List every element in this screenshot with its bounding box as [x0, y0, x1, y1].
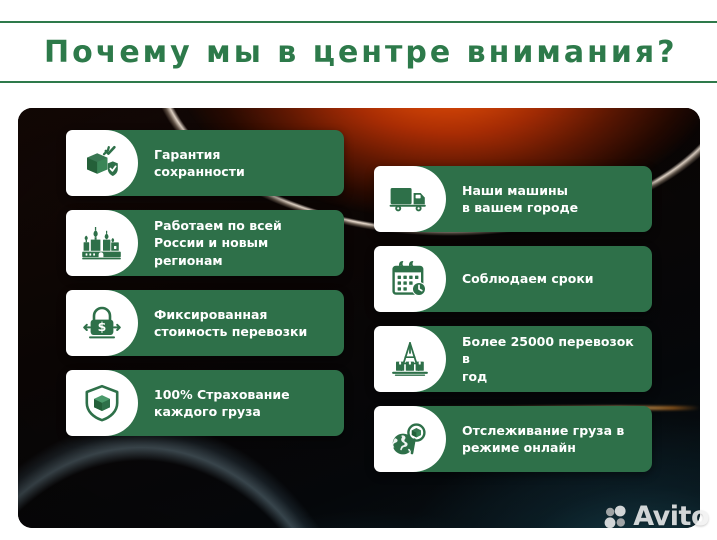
padlock-dollar-icon: $ — [66, 290, 138, 356]
feature-card-label: 100% Страхование каждого груза — [154, 386, 290, 421]
feature-card-label: Более 25000 перевозок в год — [462, 333, 642, 385]
globe-magnifier-icon — [374, 406, 446, 472]
kremlin-cityscape-icon — [66, 210, 138, 276]
feature-card-label: Соблюдаем сроки — [462, 270, 594, 287]
feature-card-volume[interactable]: Более 25000 перевозок в год — [374, 326, 652, 392]
truck-icon — [374, 166, 446, 232]
feature-card-tracking[interactable]: Отслеживание груза в режиме онлайн — [374, 406, 652, 472]
svg-text:$: $ — [98, 319, 107, 334]
crates-crane-icon — [374, 326, 446, 392]
shield-box-icon — [66, 370, 138, 436]
feature-panel: Гарантия сохранности — [18, 108, 700, 528]
page-header: Почему мы в центре внимания? — [0, 21, 717, 83]
feature-column-left: Гарантия сохранности — [66, 130, 344, 436]
page-title: Почему мы в центре внимания? — [44, 35, 678, 70]
feature-card-label: Наши машины в вашем городе — [462, 182, 578, 217]
feature-card-deadlines[interactable]: Соблюдаем сроки — [374, 246, 652, 312]
feature-column-right: Наши машины в вашем городе — [374, 166, 652, 472]
feature-card-label: Гарантия сохранности — [154, 146, 245, 181]
feature-card-guarantee[interactable]: Гарантия сохранности — [66, 130, 344, 196]
feature-card-fixed-price[interactable]: $ Фиксированная стоимость перевозки — [66, 290, 344, 356]
box-shield-check-icon — [66, 130, 138, 196]
feature-card-coverage[interactable]: Работаем по всей России и новым регионам — [66, 210, 344, 276]
feature-card-fleet[interactable]: Наши машины в вашем городе — [374, 166, 652, 232]
feature-card-insurance[interactable]: 100% Страхование каждого груза — [66, 370, 344, 436]
feature-card-label: Отслеживание груза в режиме онлайн — [462, 422, 624, 457]
calendar-clock-icon — [374, 246, 446, 312]
feature-card-label: Фиксированная стоимость перевозки — [154, 306, 307, 341]
feature-card-label: Работаем по всей России и новым регионам — [154, 217, 334, 269]
